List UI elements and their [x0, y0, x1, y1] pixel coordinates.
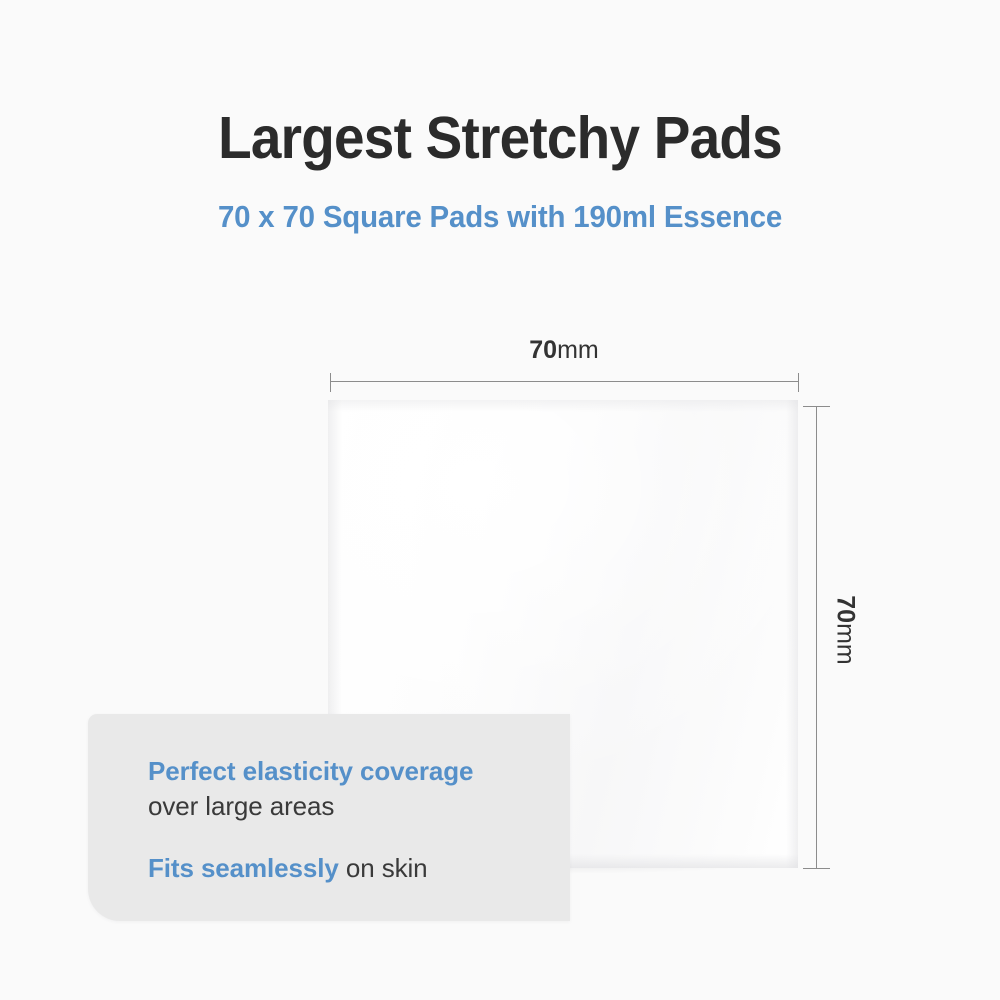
dimension-label-width: 70mm — [330, 336, 798, 365]
callout-line-3-text: on skin — [339, 853, 428, 883]
dimension-line-width — [330, 381, 799, 382]
dimension-tick-height-bottom — [803, 868, 830, 869]
dimension-tick-height-top — [803, 406, 830, 407]
dimension-line-height — [816, 406, 817, 868]
dimension-tick-width-left — [330, 373, 331, 392]
dimension-width-value: 70 — [529, 336, 557, 364]
page-title: Largest Stretchy Pads — [35, 108, 965, 168]
feature-callout-panel: Perfect elasticity coverage over large a… — [88, 714, 570, 921]
dimension-width-unit: mm — [557, 336, 599, 364]
callout-line-2: over large areas — [148, 789, 568, 824]
callout-line-3: Fits seamlessly on skin — [148, 851, 568, 886]
dimension-label-height: 70mm — [831, 595, 860, 664]
feature-callout-text: Perfect elasticity coverage over large a… — [148, 754, 568, 886]
dimension-height-unit: mm — [832, 623, 860, 665]
page-subtitle: 70 x 70 Square Pads with 190ml Essence — [25, 200, 975, 234]
callout-line-1: Perfect elasticity coverage — [148, 754, 568, 789]
callout-line-3-highlight: Fits seamlessly — [148, 853, 339, 883]
callout-line-2-text: over large areas — [148, 791, 334, 821]
dimension-tick-width-right — [798, 373, 799, 392]
dimension-height-value: 70 — [832, 595, 860, 623]
callout-line-1-highlight: Perfect elasticity coverage — [148, 756, 473, 786]
infographic-canvas: Largest Stretchy Pads 70 x 70 Square Pad… — [0, 0, 1000, 1000]
